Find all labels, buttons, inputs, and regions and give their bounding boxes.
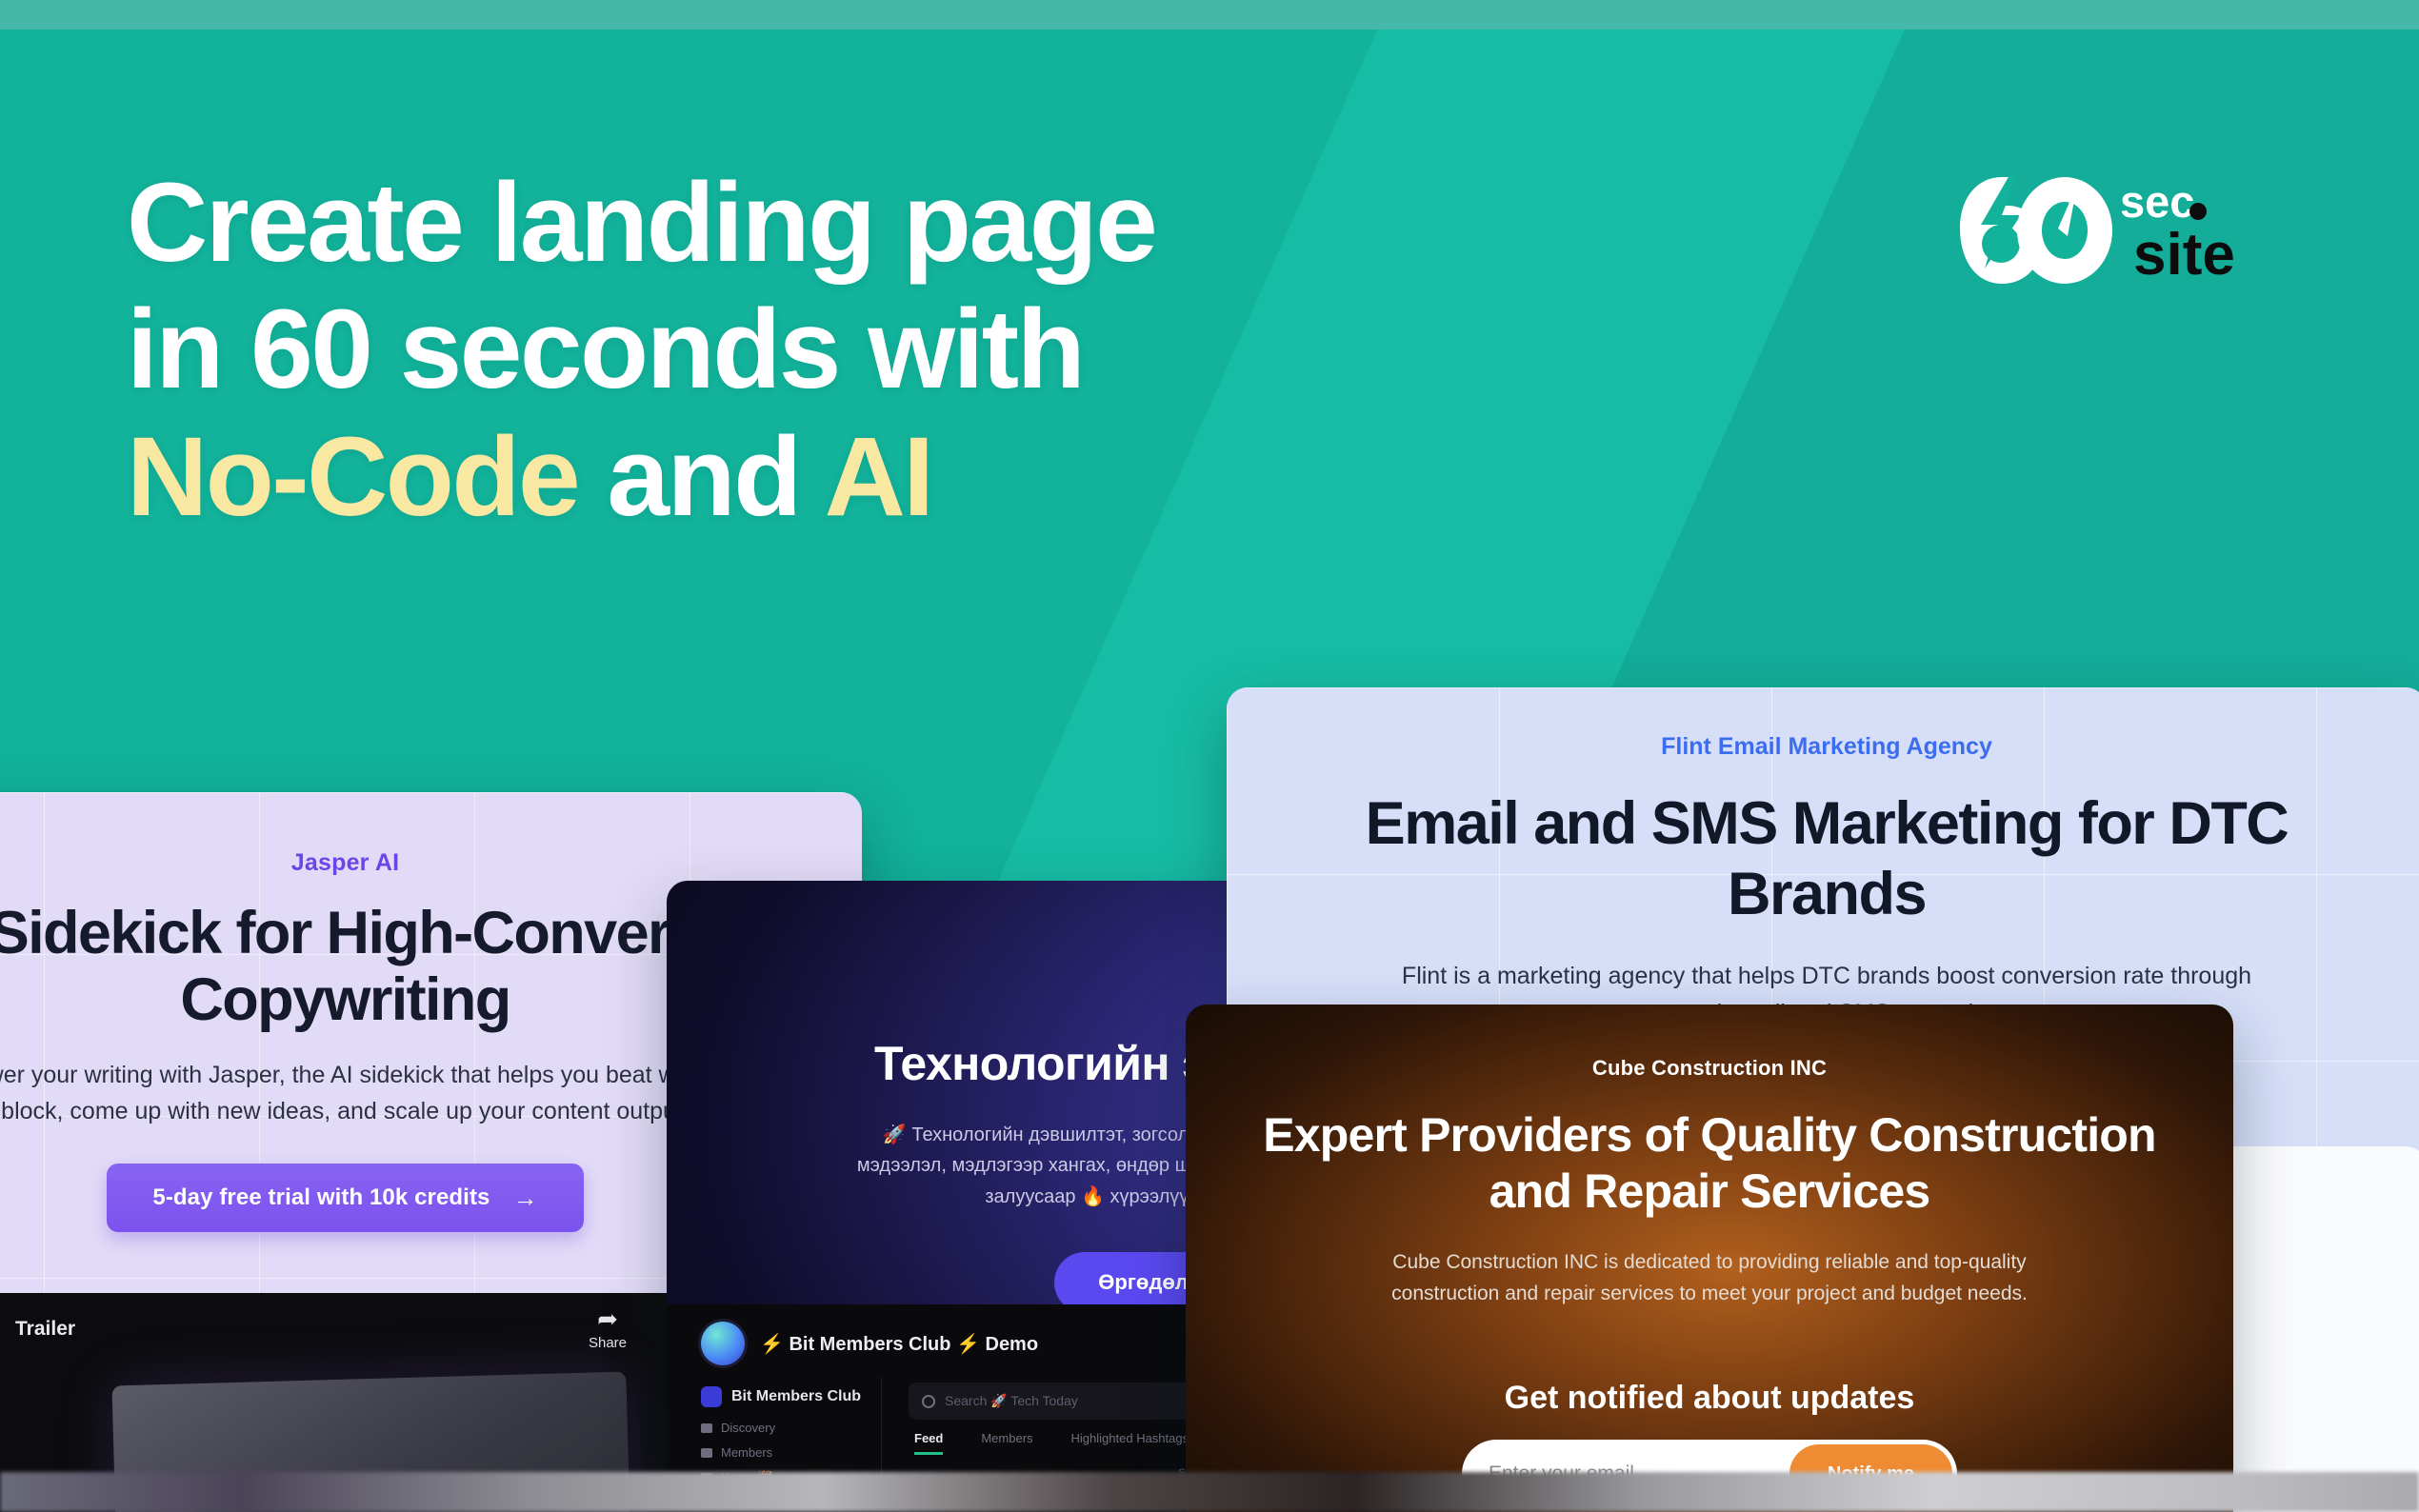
share-button[interactable]: ➦ Share [589, 1306, 627, 1351]
jasper-body: Power your writing with Jasper, the AI s… [0, 1057, 746, 1129]
jasper-cta-label: 5-day free trial with 10k credits [152, 1184, 490, 1211]
search-icon [922, 1395, 935, 1408]
flint-eyebrow: Flint Email Marketing Agency [1288, 733, 2366, 761]
page-title: Create landing page in 60 seconds with N… [127, 160, 1803, 541]
brand-logo[interactable]: sec site [1943, 169, 2295, 293]
headline-accent-nocode: No-Code [127, 414, 578, 540]
headline-line-2: in 60 seconds with [127, 287, 1083, 412]
cube-body: Cube Construction INC is dedicated to pr… [1367, 1246, 2052, 1309]
jasper-cta-button[interactable]: 5-day free trial with 10k credits → [107, 1164, 583, 1232]
tab-members[interactable]: Members [981, 1431, 1032, 1455]
headline-accent-ai: AI [825, 414, 932, 540]
sidebar-item-members[interactable]: Members [701, 1445, 881, 1460]
search-placeholder: Search 🚀 Tech Today [945, 1393, 1078, 1409]
headline-conjunction: and [578, 414, 824, 540]
share-label: Share [589, 1335, 627, 1351]
tab-highlighted-hashtags[interactable]: Highlighted Hashtags [1071, 1431, 1190, 1455]
bottom-blur-strip [0, 1472, 2419, 1512]
hero-screenshot: Create landing page in 60 seconds with N… [0, 0, 2419, 1512]
logo-site-text: site [2133, 222, 2235, 288]
hero-top-strip [0, 0, 2419, 30]
arrow-right-icon: → [513, 1185, 538, 1210]
cube-notify-heading: Get notified about updates [1254, 1380, 2165, 1417]
cube-title: Expert Providers of Quality Construction… [1254, 1107, 2165, 1220]
members-icon [701, 1448, 712, 1458]
sidebar-workspace-title: Bit Members Club [701, 1386, 881, 1407]
tab-feed[interactable]: Feed [914, 1431, 943, 1455]
logo-sec-text: sec [2120, 176, 2194, 227]
panel-header-title: ⚡ Bit Members Club ⚡ Demo [760, 1332, 1038, 1356]
share-icon: ➦ [589, 1306, 627, 1331]
sidebar-item-discovery[interactable]: Discovery [701, 1421, 881, 1435]
headline-line-1: Create landing page [127, 160, 1155, 286]
discovery-icon [701, 1423, 712, 1433]
landing-preview-cube-construction[interactable]: Cube Construction INC Expert Providers o… [1186, 1005, 2233, 1512]
video-title: Trailer [15, 1318, 75, 1341]
logo-dot [2189, 203, 2207, 220]
globe-icon [701, 1322, 745, 1365]
logo-sixty-icon [1960, 175, 2112, 284]
flint-title: Email and SMS Marketing for DTC Brands [1288, 789, 2366, 929]
workspace-avatar [701, 1386, 722, 1407]
jasper-eyebrow: Jasper AI [0, 849, 816, 877]
cube-eyebrow: Cube Construction INC [1254, 1056, 2165, 1081]
